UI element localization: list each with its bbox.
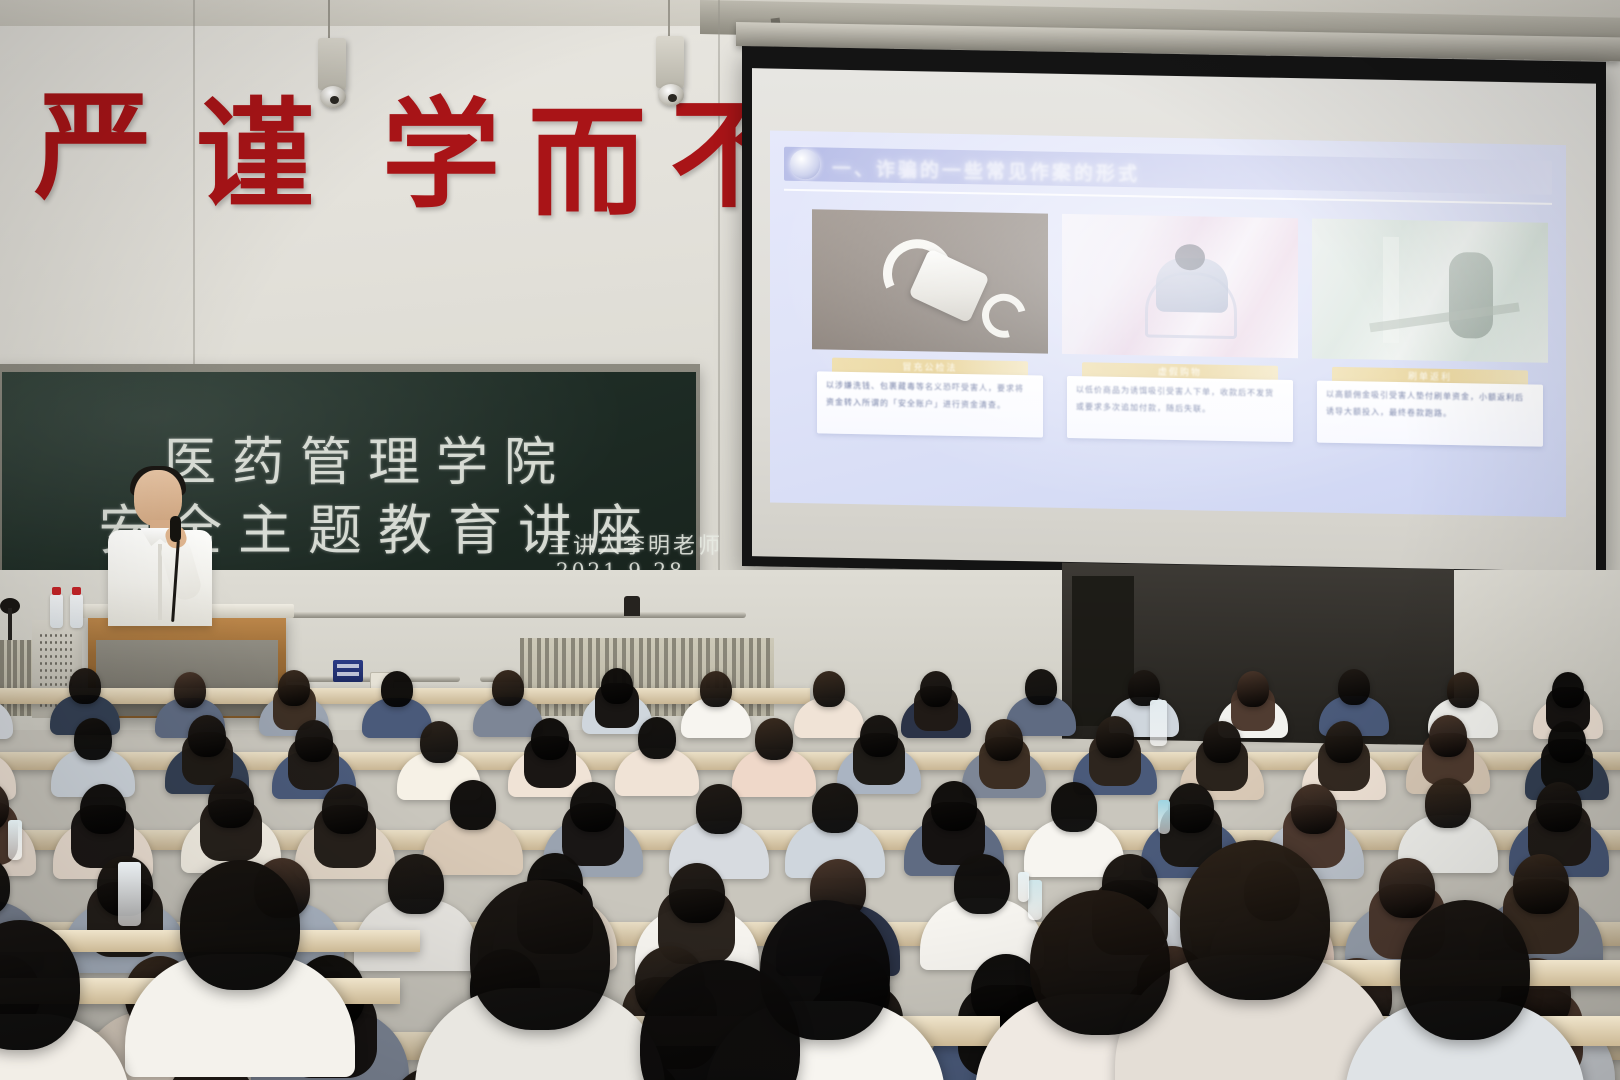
audience-member-head	[700, 671, 732, 707]
blackboard-signature: 主讲人李明老师	[548, 528, 723, 560]
audience-member-head	[69, 668, 101, 704]
audience-member-head	[931, 781, 977, 831]
audience-member-head	[669, 863, 725, 923]
wall-seam-left	[193, 0, 195, 370]
water-bottle	[8, 820, 22, 860]
podium-vent-hole	[60, 634, 62, 637]
audience-member-head	[601, 668, 633, 704]
calligraphy-char-2: 谨	[196, 96, 314, 214]
audience-member-head	[1447, 672, 1479, 708]
camera-lens-2	[668, 94, 677, 102]
audience-member-head	[1025, 669, 1057, 705]
audience-member-head	[1168, 783, 1214, 833]
audience-member-head	[1379, 858, 1435, 918]
audience-member-head	[1203, 721, 1241, 763]
audience-member-head	[1096, 716, 1134, 758]
wall-sensor-box	[624, 596, 640, 616]
audience-member-head	[420, 721, 458, 763]
audience-member-head	[1291, 784, 1337, 834]
lecture-hall-photo: 严 谨 学 而 不 医药管理学院 安全主题教育讲座 主讲人李明老师 2021.9…	[0, 0, 1620, 1080]
audience-member-head	[295, 720, 333, 762]
audience-member-head	[74, 718, 112, 760]
foreground-person-head	[470, 880, 610, 1030]
audience-member-head	[812, 783, 858, 833]
water-bottle	[118, 862, 141, 926]
audience-member-head	[954, 854, 1010, 914]
podium-vent-hole	[50, 634, 52, 637]
camera-wire-1	[328, 0, 330, 42]
calligraphy-char-3: 学	[382, 96, 500, 214]
bottle-cap	[52, 587, 61, 595]
water-bottle	[1028, 880, 1042, 920]
audience-member-head	[531, 718, 569, 760]
audience-member-head	[860, 715, 898, 757]
audience-member-head	[570, 782, 616, 832]
blackboard-line-1: 医药管理学院	[164, 420, 572, 495]
podium-vent-hole	[65, 634, 67, 637]
audience-member-head	[638, 717, 676, 759]
audience-member-head	[1338, 669, 1370, 705]
audience-member-head	[813, 671, 845, 707]
wall-pipe-upper	[276, 612, 746, 618]
audience-member-head	[1552, 672, 1584, 708]
camera-wire-2	[668, 0, 670, 40]
audience-member-head	[450, 780, 496, 830]
audience-member-head	[696, 784, 742, 834]
slide-glow	[770, 131, 1566, 518]
audience-member-head	[920, 671, 952, 707]
podium-vent-hole	[45, 634, 47, 637]
podium-vent-hole	[55, 634, 57, 637]
audience-member-head	[985, 719, 1023, 761]
audience-member-head	[1237, 671, 1269, 707]
audience-member-head	[188, 715, 226, 757]
camera-lens-1	[330, 96, 339, 104]
screen-surface: 一、诈骗的一些常见作案的形式	[752, 68, 1596, 571]
water-bottle	[1150, 700, 1167, 746]
foreground-person-head	[180, 860, 300, 990]
handheld-microphone	[170, 516, 181, 542]
calligraphy-char-1: 严	[34, 88, 152, 206]
water-bottle	[1158, 800, 1170, 834]
foreground-person-head	[1180, 840, 1330, 1000]
audience-member-head	[1548, 721, 1586, 763]
speaker-person	[108, 470, 212, 620]
foreground-person-head	[1400, 900, 1530, 1040]
audience-member-head	[174, 672, 206, 708]
water-bottle-podium-1	[50, 594, 63, 628]
audience-member-head	[388, 854, 444, 914]
audience-member-head	[1429, 715, 1467, 757]
audience-member-head	[492, 670, 524, 706]
projection-screen: 一、诈骗的一些常见作案的形式	[742, 46, 1606, 582]
audience-member-head	[1425, 778, 1471, 828]
surveillance-camera-1	[318, 38, 346, 90]
audience-member-head	[1325, 721, 1363, 763]
audience-member-head	[1513, 854, 1569, 914]
podium-vent-hole	[40, 634, 42, 637]
audience-member-head	[755, 718, 793, 760]
audience-member-head	[322, 784, 368, 834]
water-bottle-podium-2	[70, 594, 83, 628]
projected-slide: 一、诈骗的一些常见作案的形式	[770, 131, 1566, 518]
audience-member-head	[278, 670, 310, 706]
foreground-person-head	[1030, 890, 1170, 1035]
water-bottle	[1018, 872, 1029, 902]
audience-member-head	[381, 671, 413, 707]
audience-member-head	[1536, 782, 1582, 832]
audience-member-head	[208, 778, 254, 828]
audience-member-shoulders	[0, 699, 13, 739]
surveillance-camera-2	[656, 36, 684, 88]
bottle-cap	[72, 587, 81, 595]
podium-vent-hole	[70, 634, 72, 637]
desk-microphone-stand	[8, 608, 12, 640]
calligraphy-char-4: 而	[528, 104, 646, 222]
audience-member-head	[1051, 782, 1097, 832]
audience-member-head	[80, 784, 126, 834]
